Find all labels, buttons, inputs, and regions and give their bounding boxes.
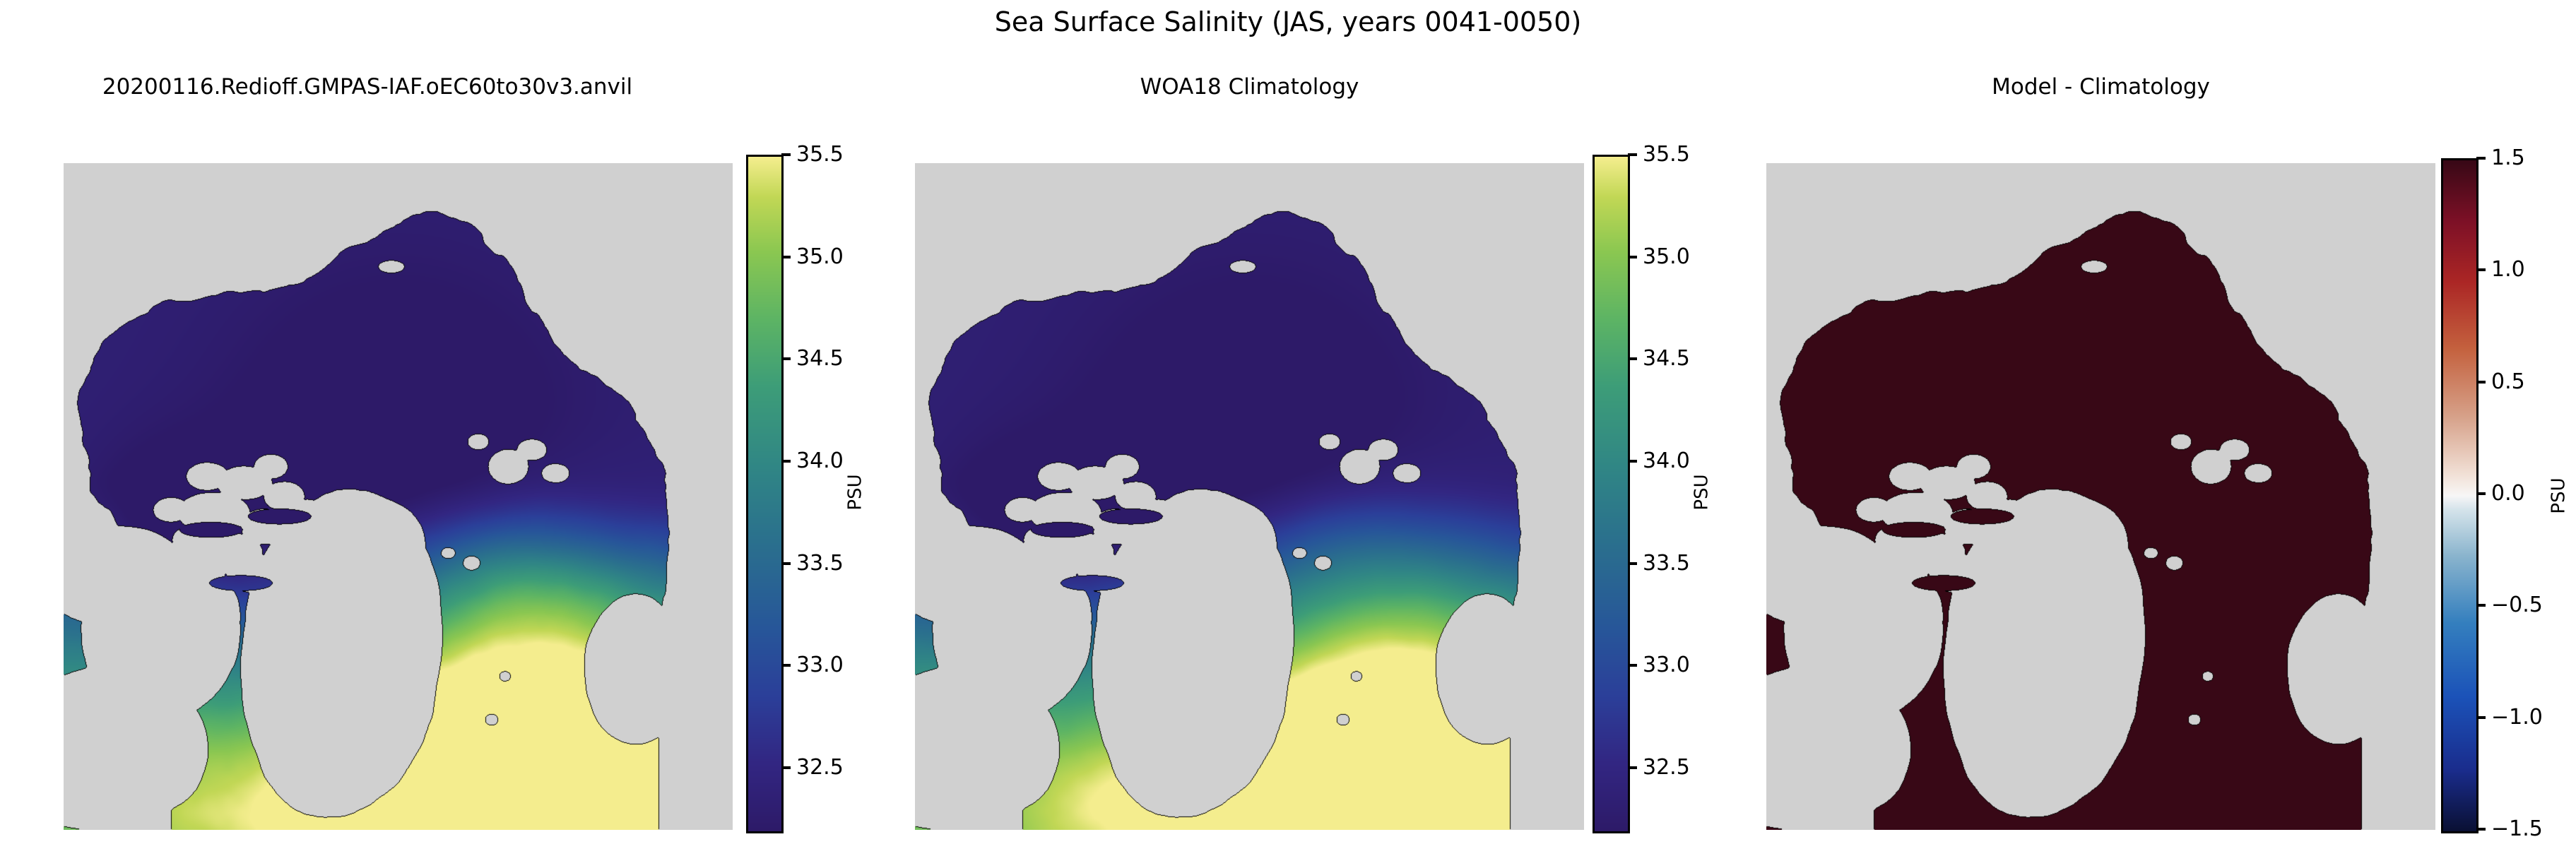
- tick-mark: [781, 153, 791, 156]
- panel-title-difference: Model - Climatology: [1766, 73, 2435, 100]
- tick-label: 35.0: [1643, 244, 1690, 271]
- tick-mark: [2476, 604, 2486, 607]
- colorbar-difference: [2441, 158, 2478, 833]
- colorbar-gradient-model: [748, 157, 781, 831]
- map-canvas-difference: [1766, 163, 2435, 830]
- tick-label: 34.5: [1643, 345, 1690, 372]
- tick-label: 35.5: [1643, 141, 1690, 168]
- tick-label: 34.5: [796, 345, 844, 372]
- tick-mark: [2476, 828, 2486, 831]
- tick-label: 33.5: [1643, 550, 1690, 577]
- tick-mark: [1628, 766, 1637, 769]
- tick-label: 1.0: [2491, 256, 2525, 283]
- tick-mark: [1628, 256, 1637, 258]
- tick-label: 35.5: [796, 141, 844, 168]
- tick-label: −1.0: [2491, 704, 2543, 731]
- colorbar-unit-climatology: PSU: [1691, 474, 1713, 510]
- figure-suptitle: Sea Surface Salinity (JAS, years 0041-00…: [0, 6, 2576, 38]
- map-canvas-model: [64, 163, 733, 830]
- map-climatology[interactable]: [915, 163, 1584, 830]
- map-model[interactable]: [64, 163, 733, 830]
- tick-mark: [1628, 357, 1637, 360]
- tick-label: 32.5: [1643, 754, 1690, 781]
- tick-mark: [1628, 153, 1637, 156]
- colorbar-climatology: [1593, 155, 1630, 833]
- tick-label: 33.0: [796, 652, 844, 679]
- panel-title-model: 20200116.Redioff.GMPAS-IAF.oEC60to30v3.a…: [0, 73, 735, 100]
- tick-label: 35.0: [796, 244, 844, 271]
- map-difference[interactable]: [1766, 163, 2435, 830]
- tick-label: 34.0: [1643, 448, 1690, 475]
- tick-label: 0.0: [2491, 480, 2525, 507]
- tick-label: 33.5: [796, 550, 844, 577]
- tick-mark: [2476, 268, 2486, 271]
- tick-mark: [781, 766, 791, 769]
- colorbar-unit-difference: PSU: [2548, 477, 2570, 513]
- tick-mark: [1628, 460, 1637, 463]
- panel-title-climatology: WOA18 Climatology: [915, 73, 1584, 100]
- tick-label: 0.5: [2491, 369, 2525, 396]
- colorbar-model: [746, 155, 784, 833]
- colorbar-unit-model: PSU: [845, 474, 866, 510]
- tick-label: −0.5: [2491, 592, 2543, 619]
- tick-mark: [1628, 562, 1637, 565]
- tick-mark: [781, 562, 791, 565]
- tick-label: 33.0: [1643, 652, 1690, 679]
- tick-mark: [781, 460, 791, 463]
- tick-mark: [2476, 157, 2486, 160]
- colorbar-gradient-climatology: [1595, 157, 1628, 831]
- tick-label: 1.5: [2491, 145, 2525, 172]
- colorbar-gradient-difference: [2443, 160, 2476, 831]
- map-canvas-climatology: [915, 163, 1584, 830]
- figure-canvas: Sea Surface Salinity (JAS, years 0041-00…: [0, 0, 2576, 856]
- tick-mark: [781, 357, 791, 360]
- tick-mark: [781, 664, 791, 667]
- tick-mark: [2476, 492, 2486, 495]
- tick-label: −1.5: [2491, 816, 2543, 843]
- tick-mark: [1628, 664, 1637, 667]
- tick-label: 34.0: [796, 448, 844, 475]
- tick-mark: [2476, 381, 2486, 384]
- tick-mark: [781, 256, 791, 258]
- tick-mark: [2476, 716, 2486, 719]
- tick-label: 32.5: [796, 754, 844, 781]
